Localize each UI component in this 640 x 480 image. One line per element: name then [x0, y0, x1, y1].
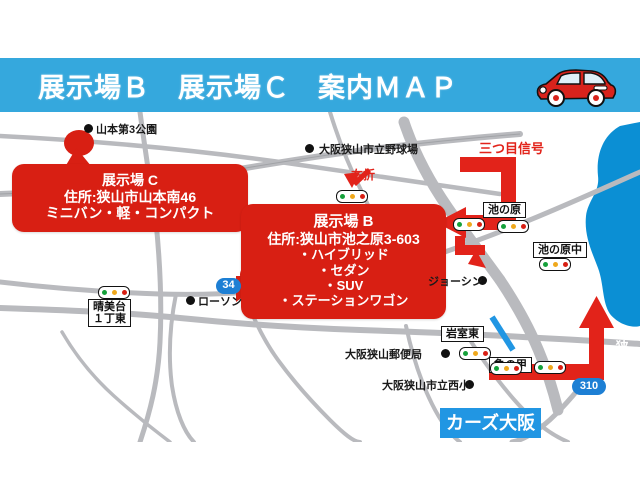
signal-green — [543, 262, 548, 267]
post-office-dot — [441, 349, 450, 358]
showroom-b-item-4: ・ステーションワゴン — [241, 293, 446, 308]
signal-red — [360, 194, 365, 199]
intersection-harumidai: 晴美台 １丁東 — [88, 299, 131, 327]
signal-yellow — [548, 365, 553, 370]
intersection-harumidai-line2: １丁東 — [93, 313, 126, 325]
signal-green — [463, 351, 468, 356]
showroom-b-item-2: ・セダン — [241, 263, 446, 278]
intersection-ikenohara-naka: 池の原中 — [533, 242, 587, 258]
intersection-iwamuro-higashi: 岩室東 — [441, 326, 484, 342]
annotation-third-signal: 三つ目信号 — [479, 138, 544, 157]
header-banner: 展示場Ｂ 展示場Ｃ 案内ＭＡＰ — [0, 58, 640, 112]
signal-yellow — [553, 262, 558, 267]
showroom-c-categories: ミニバン・軽・コンパクト — [12, 205, 248, 222]
signal-green — [102, 290, 107, 295]
signal-yellow — [511, 224, 516, 229]
destination-label-cars-osaka[interactable]: カーズ大阪 — [440, 408, 541, 438]
map-canvas: 展示場 C 住所:狭山市山本南46 ミニバン・軽・コンパクト 展示場 B 住所:… — [0, 112, 640, 442]
showroom-b-callout[interactable]: 展示場 B 住所:狭山市池之原3-603 ・ハイブリッド ・セダン ・SUV ・… — [241, 204, 446, 319]
red-car-icon — [532, 64, 618, 108]
traffic-signal-kamenoko — [534, 361, 566, 374]
signal-green — [457, 222, 462, 227]
route-shield-310: 310 — [572, 378, 606, 395]
traffic-signal-ikenohara-naka — [539, 258, 571, 271]
signal-green — [538, 365, 543, 370]
signal-red — [514, 366, 519, 371]
baseball-stadium-dot — [305, 144, 314, 153]
traffic-signal-harumidai — [98, 286, 130, 299]
showroom-c-name: 展示場 C — [12, 172, 248, 189]
showroom-c-address: 住所:狭山市山本南46 — [12, 189, 248, 206]
page-title: 展示場Ｂ 展示場Ｃ 案内ＭＡＰ — [38, 66, 458, 105]
signal-yellow — [467, 222, 472, 227]
signal-green — [340, 194, 345, 199]
showroom-b-address: 住所:狭山市池之原3-603 — [241, 231, 446, 248]
signal-yellow — [473, 351, 478, 356]
signal-green — [501, 224, 506, 229]
lake-label-sayama-ike: 狭山池 — [614, 340, 628, 382]
place-label-joshin: ジョーシン — [428, 273, 483, 289]
signal-red — [483, 351, 488, 356]
place-label-yamamoto-park: 山本第3公園 — [96, 121, 157, 137]
traffic-signal-turn-right — [336, 190, 368, 203]
place-label-lawson: ローソン — [198, 293, 242, 309]
traffic-signal-iwamuro-south — [490, 362, 522, 375]
showroom-b-item-3: ・SUV — [241, 278, 446, 293]
annotation-turn-right: 右折 — [351, 166, 375, 183]
signal-green — [494, 366, 499, 371]
place-label-post-office: 大阪狭山郵便局 — [345, 346, 422, 362]
traffic-signal-left-of-ikenohara — [453, 218, 485, 231]
intersection-ikenohara: 池の原 — [483, 202, 526, 218]
sayama-lake-shape — [586, 122, 640, 327]
signal-red — [558, 365, 563, 370]
signal-yellow — [350, 194, 355, 199]
signal-yellow — [504, 366, 509, 371]
signal-red — [563, 262, 568, 267]
signal-red — [521, 224, 526, 229]
showroom-b-item-1: ・ハイブリッド — [241, 247, 446, 262]
lawson-dot — [186, 296, 195, 305]
intersection-iwamuro-higashi-line1: 岩室東 — [446, 328, 479, 340]
signal-red — [122, 290, 127, 295]
place-label-baseball-stadium: 大阪狭山市立野球場 — [319, 141, 418, 157]
intersection-ikenohara-line1: 池の原 — [488, 204, 521, 216]
map-flyer-page: 展示場Ｂ 展示場Ｃ 案内ＭＡＰ — [0, 0, 640, 480]
showroom-c-callout[interactable]: 展示場 C 住所:狭山市山本南46 ミニバン・軽・コンパクト — [12, 164, 248, 232]
place-label-nishi-elementary: 大阪狭山市立西小 — [382, 377, 470, 393]
route-shield-34: 34 — [216, 278, 241, 294]
traffic-signal-ikenohara — [497, 220, 529, 233]
signal-yellow — [112, 290, 117, 295]
showroom-b-name: 展示場 B — [241, 213, 446, 231]
intersection-ikenohara-naka-line1: 池の原中 — [538, 244, 582, 256]
traffic-signal-post-office — [459, 347, 491, 360]
yamamoto-park-dot — [84, 124, 93, 133]
signal-red — [477, 222, 482, 227]
intersection-harumidai-line1: 晴美台 — [93, 301, 126, 313]
